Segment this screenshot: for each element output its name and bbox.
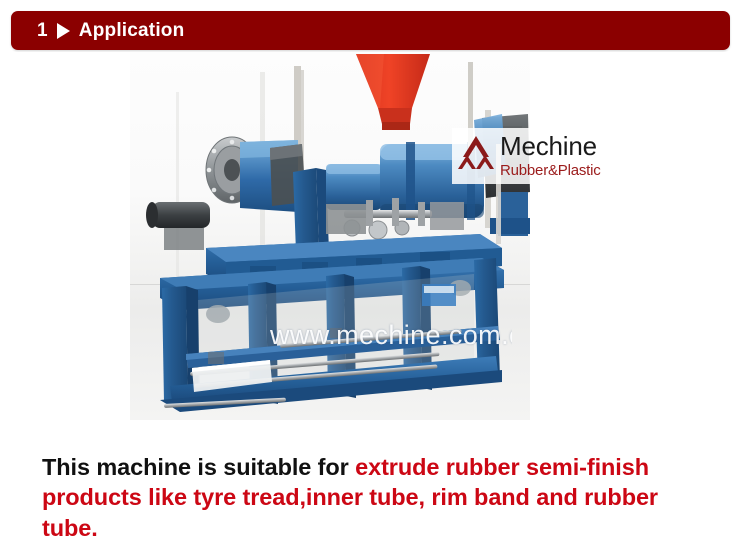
caption-paragraph: This machine is suitable for extrude rub… xyxy=(42,452,710,543)
page-title: Application xyxy=(79,21,185,40)
section-number: 1 xyxy=(37,21,48,40)
logo-company-name: Mechine xyxy=(500,133,601,160)
logo-text-block: Mechine Rubber&Plastic xyxy=(500,133,601,179)
play-triangle-icon xyxy=(57,23,70,39)
machine-photo-area: Mechine Rubber&Plastic www.mechine.com.c xyxy=(0,52,739,420)
logo-tagline: Rubber&Plastic xyxy=(500,162,601,179)
company-logo: Mechine Rubber&Plastic xyxy=(452,128,622,184)
machine-photo xyxy=(130,52,530,420)
caption-lead-text: This machine is suitable for xyxy=(42,454,355,480)
section-header-bar: 1 Application xyxy=(11,11,730,50)
slide-root: 1 Application xyxy=(0,0,739,537)
extruder-machine-illustration xyxy=(130,52,530,420)
mountain-chevron-icon xyxy=(456,135,496,177)
